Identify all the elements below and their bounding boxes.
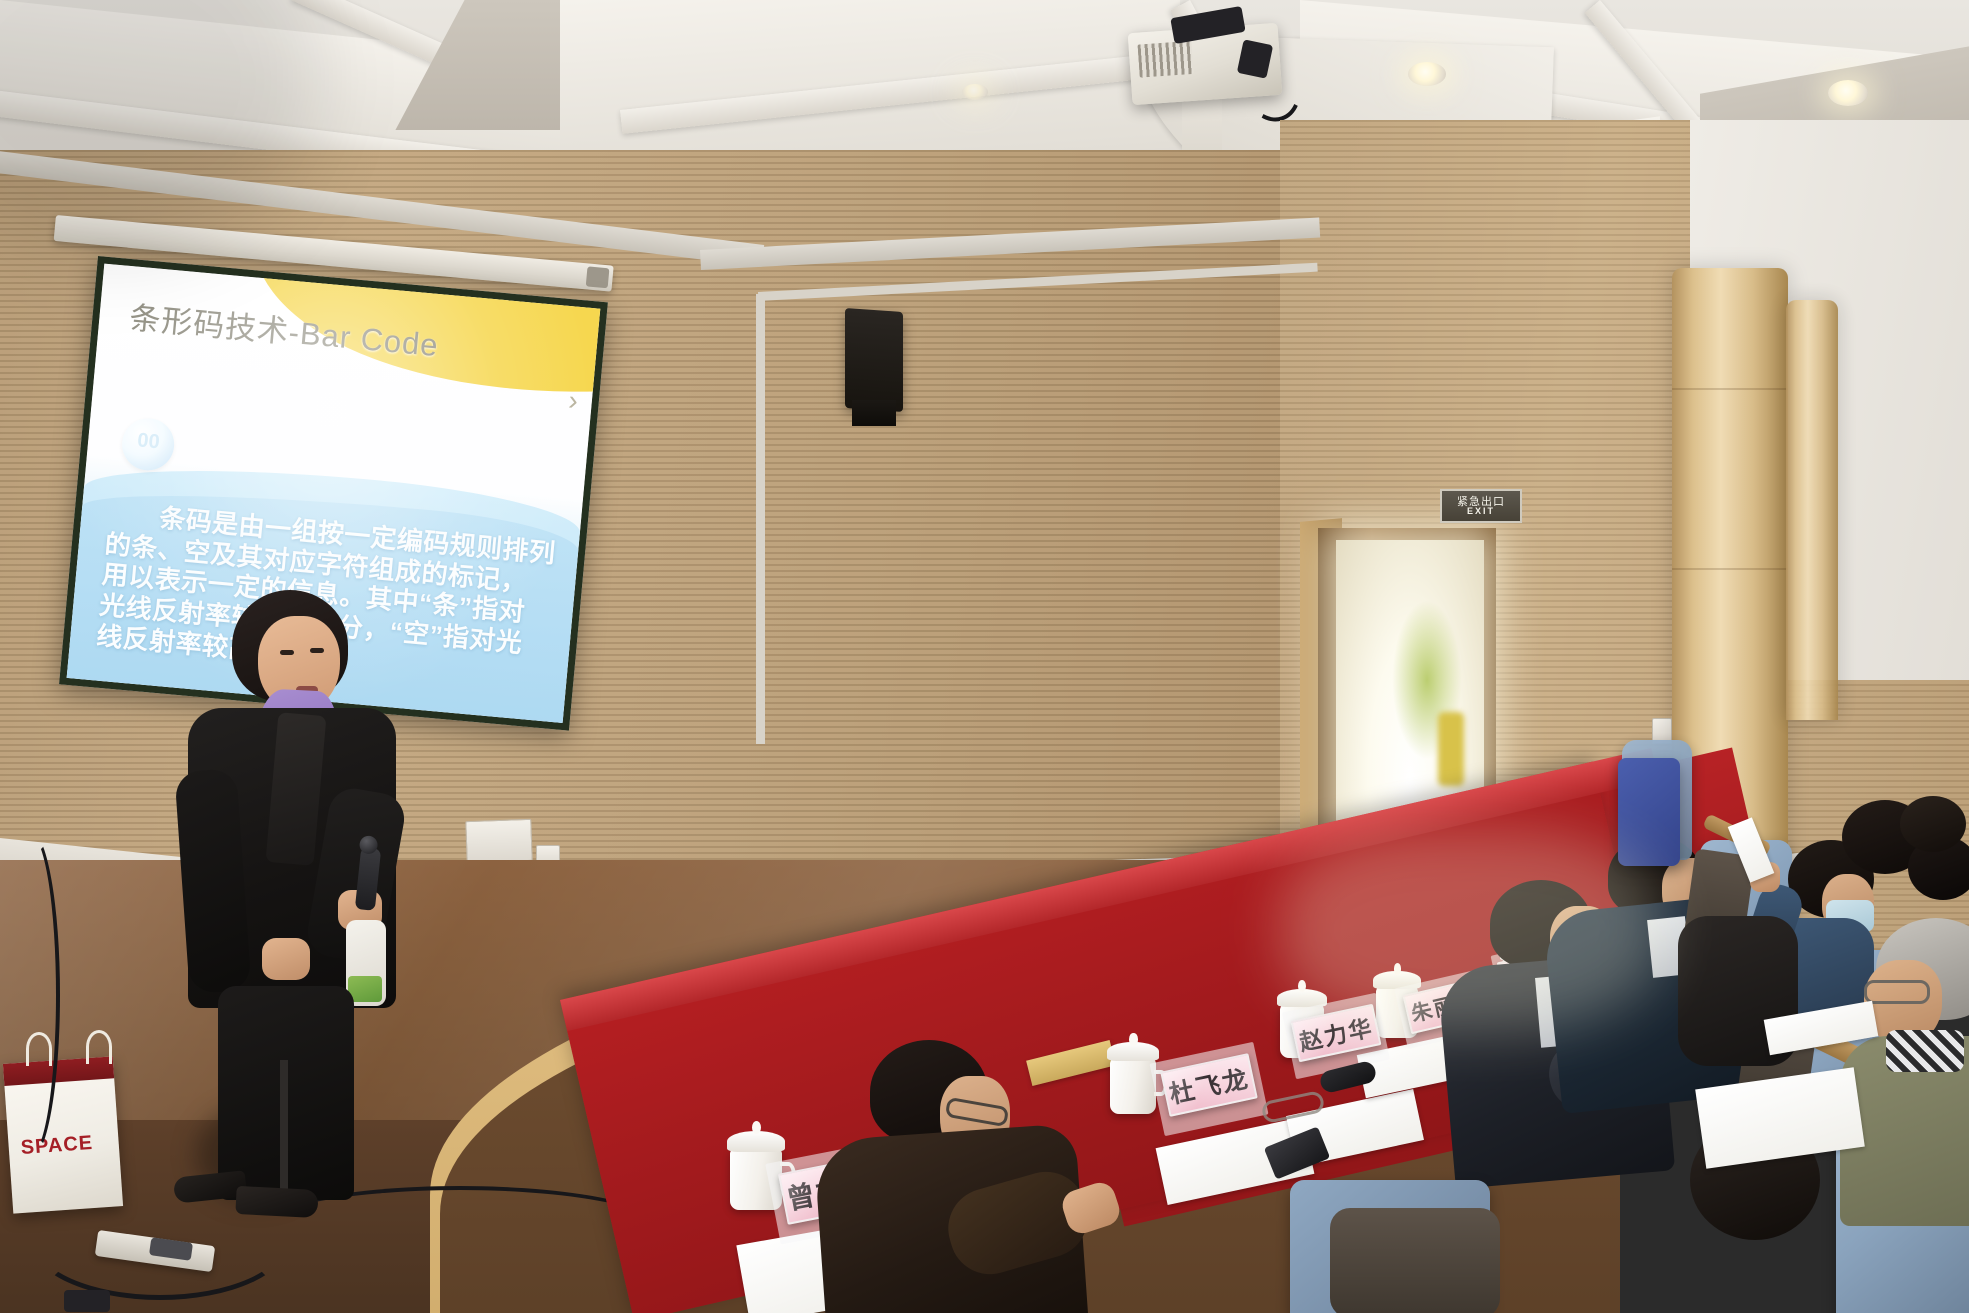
exit-sign: 紧急出口 EXIT [1440,489,1522,523]
wall-panel-plate [465,819,532,863]
wall-speaker-base [852,400,896,426]
downlight-1 [1408,62,1446,86]
seated-man-front [780,1040,1110,1313]
slide-arrow-icon: › [567,384,579,417]
wall-conduit-vertical [756,294,765,744]
floor-cable-1 [0,830,60,1160]
power-plug [64,1290,110,1312]
downlight-4 [962,84,988,100]
slide-bubble-glyph: 00 [136,429,160,454]
pillar-band-2 [1672,568,1788,570]
lecture-hall-photo: 紧急出口 EXIT 00 条形码技术-Bar Code › 条码是由一组按一定编… [0,0,1969,1313]
audience-head-back-3 [1900,796,1966,852]
pillar-band-1 [1672,388,1788,390]
screen-case-end-cap [586,266,610,288]
presenter [180,590,420,1120]
presenter-hand-left [262,938,310,980]
chair-back-dark-3 [1330,1208,1500,1313]
presenter-shoe-right [235,1186,318,1218]
stacked-chair[interactable] [1618,758,1680,866]
doorway-light-spill [1280,830,1660,1030]
presenter-leg-split [280,1060,288,1200]
presenter-eye-left [280,650,294,655]
downlight-3 [1828,80,1868,106]
bag-handle-right [86,1030,112,1064]
presenter-eye-right [310,648,324,653]
audience-2-collar [1886,1030,1964,1072]
exit-sign-english: EXIT [1467,507,1495,516]
wall-speaker [845,308,903,412]
slide-bubble-icon: 00 [120,416,176,472]
teacup-2-knob [1129,1033,1137,1045]
projector-vent [1137,40,1193,77]
audience-2-glasses [1864,980,1930,1004]
wood-pillar-far [1786,300,1838,720]
doorway-figure [1438,712,1464,786]
